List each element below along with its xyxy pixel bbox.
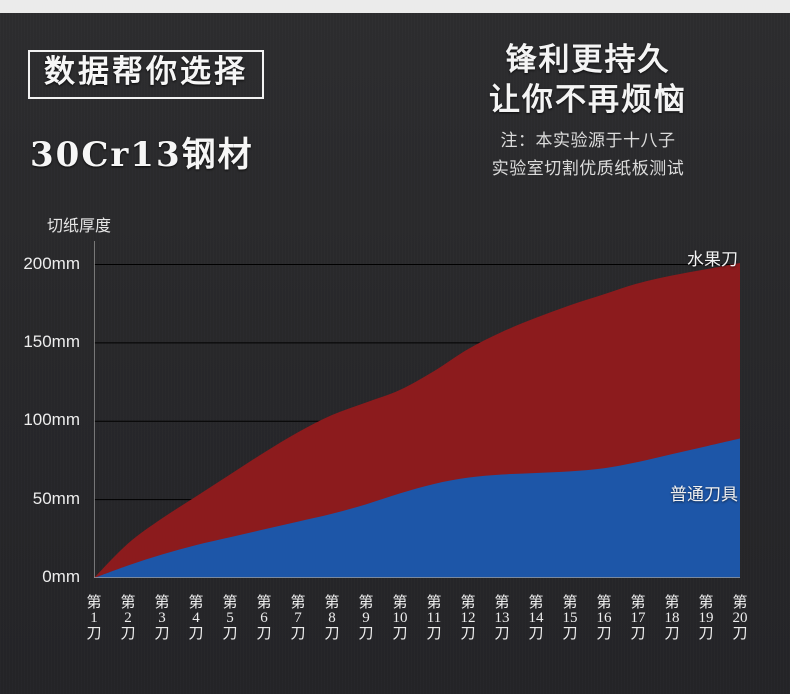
x-tick-第9刀: 第9刀 [351, 595, 381, 642]
x-tick-第4刀: 第4刀 [181, 595, 211, 642]
x-tick-第14刀: 第14刀 [521, 595, 551, 642]
series-label-fruit-knife: 水果刀 [687, 245, 738, 270]
x-tick-第5刀: 第5刀 [215, 595, 245, 642]
poster-stage: 数据帮你选择 30Cr13钢材 锋利更持久 让你不再烦恼 注：本实验源于十八子 … [0, 13, 790, 694]
x-tick-第2刀: 第2刀 [113, 595, 143, 642]
x-tick-第17刀: 第17刀 [623, 595, 653, 642]
area-chart: 切纸厚度 0mm50mm100mm150mm200mm 水果刀 普通刀具 第1刀… [0, 13, 790, 694]
x-tick-第10刀: 第10刀 [385, 595, 415, 642]
x-tick-第18刀: 第18刀 [657, 595, 687, 642]
y-tick-150: 150mm [23, 332, 80, 352]
x-tick-第19刀: 第19刀 [691, 595, 721, 642]
x-tick-第6刀: 第6刀 [249, 595, 279, 642]
y-tick-100: 100mm [23, 410, 80, 430]
x-tick-第12刀: 第12刀 [453, 595, 483, 642]
y-tick-0: 0mm [42, 567, 80, 587]
x-tick-第7刀: 第7刀 [283, 595, 313, 642]
x-tick-第8刀: 第8刀 [317, 595, 347, 642]
x-tick-第16刀: 第16刀 [589, 595, 619, 642]
plot-area [94, 241, 740, 578]
x-tick-第3刀: 第3刀 [147, 595, 177, 642]
series-label-ordinary-knife: 普通刀具 [670, 480, 738, 505]
y-axis-tick-labels: 0mm50mm100mm150mm200mm [0, 13, 80, 694]
x-tick-第1刀: 第1刀 [79, 595, 109, 642]
x-tick-第20刀: 第20刀 [725, 595, 755, 642]
x-axis-tick-labels: 第1刀第2刀第3刀第4刀第5刀第6刀第7刀第8刀第9刀第10刀第11刀第12刀第… [94, 595, 740, 665]
x-tick-第15刀: 第15刀 [555, 595, 585, 642]
top-strip [0, 0, 790, 13]
x-tick-第11刀: 第11刀 [419, 595, 449, 642]
y-tick-200: 200mm [23, 254, 80, 274]
y-tick-50: 50mm [33, 489, 80, 509]
x-tick-第13刀: 第13刀 [487, 595, 517, 642]
